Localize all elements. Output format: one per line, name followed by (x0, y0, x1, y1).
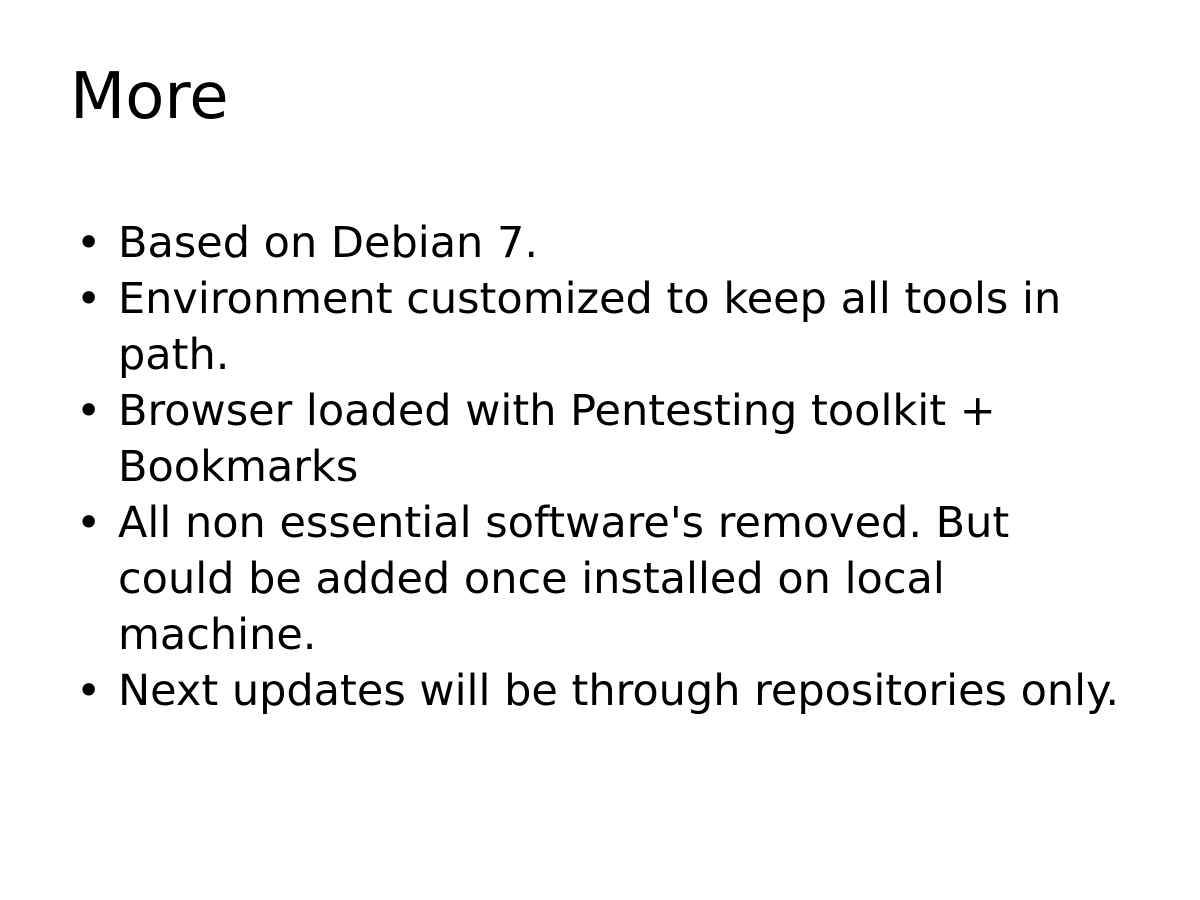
list-item-text: Next updates will be through repositorie… (118, 663, 1128, 719)
presentation-slide: More • Based on Debian 7. • Environment … (0, 0, 1200, 900)
list-item: • Browser loaded with Pentesting toolkit… (68, 383, 1128, 495)
list-item-text: Browser loaded with Pentesting toolkit +… (118, 383, 1128, 495)
bullet-point-icon: • (76, 383, 106, 439)
list-item: • Next updates will be through repositor… (68, 663, 1128, 719)
list-item: • All non essential software's removed. … (68, 495, 1128, 663)
list-item-text: All non essential software's removed. Bu… (118, 495, 1128, 663)
list-item: • Environment customized to keep all too… (68, 271, 1128, 383)
bullet-point-icon: • (76, 271, 106, 327)
bullet-list: • Based on Debian 7. • Environment custo… (68, 215, 1128, 719)
page-title: More (70, 62, 1130, 134)
list-item: • Based on Debian 7. (68, 215, 1128, 271)
bullet-point-icon: • (76, 215, 106, 271)
bullet-point-icon: • (76, 495, 106, 551)
bullet-point-icon: • (76, 663, 106, 719)
list-item-text: Based on Debian 7. (118, 215, 1128, 271)
list-item-text: Environment customized to keep all tools… (118, 271, 1128, 383)
